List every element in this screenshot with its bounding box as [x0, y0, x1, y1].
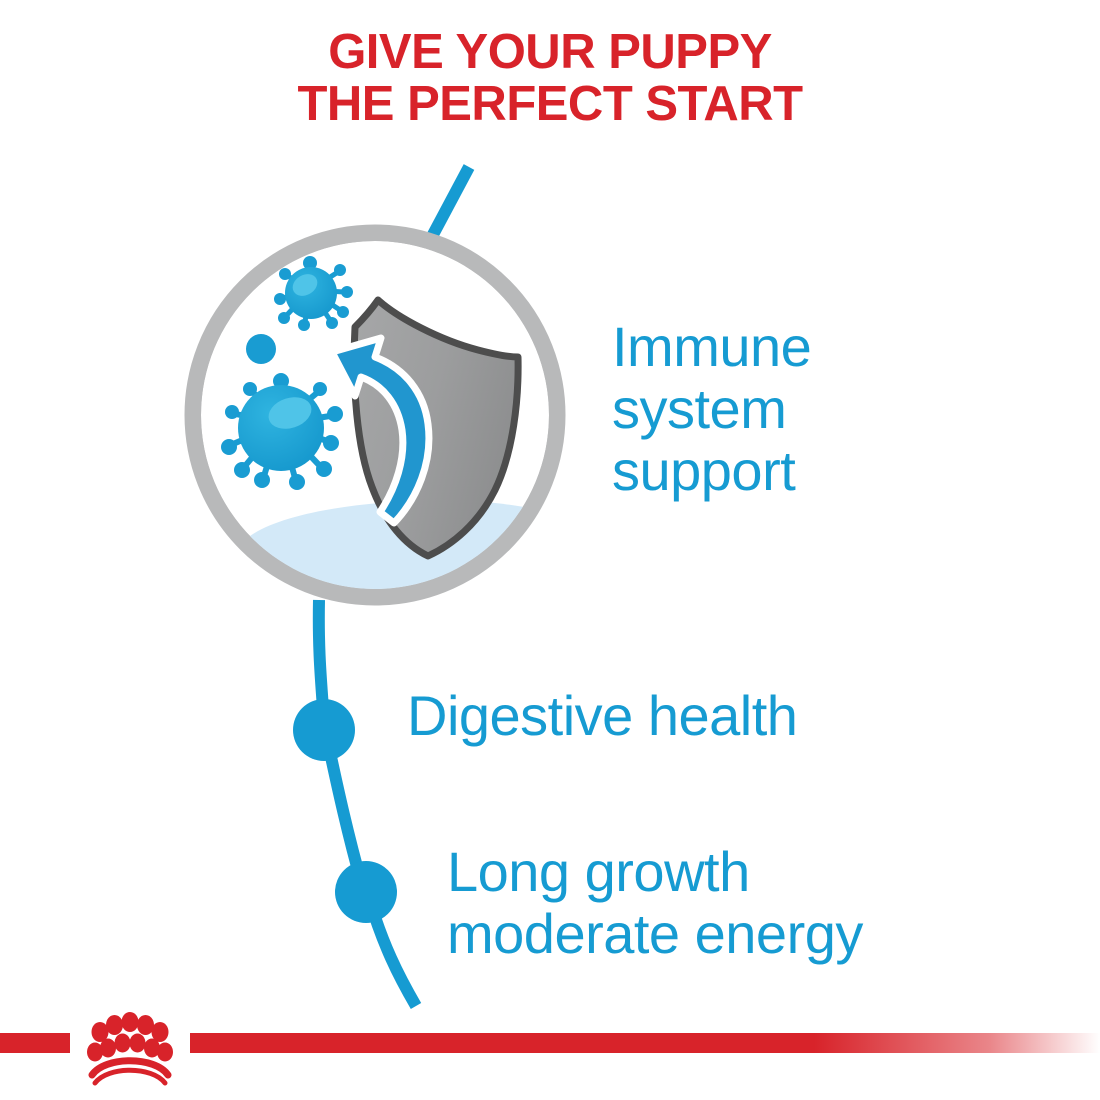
promo-panel: GIVE YOUR PUPPY THE PERFECT START [0, 0, 1100, 1100]
benefit-label-immune-system-support: Immune system support [612, 316, 811, 502]
footer [0, 1012, 1100, 1083]
benefit-label-digestive-health: Digestive health [407, 685, 797, 747]
virus-dot-icon [246, 334, 276, 364]
benefit-line: moderate energy [447, 903, 863, 965]
benefit-line: support [612, 440, 811, 502]
connector-node-1 [293, 699, 355, 761]
benefit-line: Long growth [447, 841, 863, 903]
benefit-line: system [612, 378, 811, 440]
connector-node-2 [335, 861, 397, 923]
benefit-line: Digestive health [407, 685, 797, 747]
connector-segment-top [428, 167, 469, 244]
benefit-line: Immune [612, 316, 811, 378]
benefit-label-long-growth-moderate-energy: Long growth moderate energy [447, 841, 863, 965]
